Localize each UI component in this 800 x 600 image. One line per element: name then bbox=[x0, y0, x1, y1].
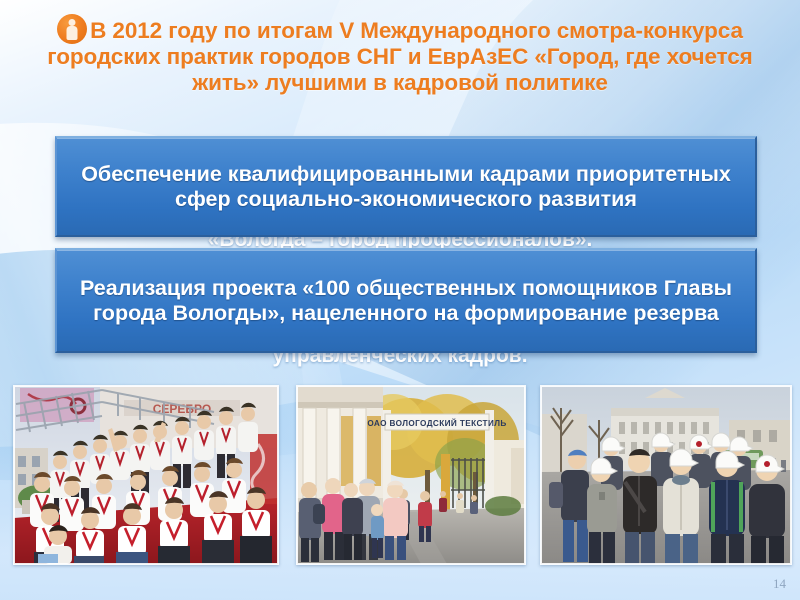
page-number: 14 bbox=[773, 576, 786, 592]
slide-heading-text: В 2012 году по итогам V Международного с… bbox=[47, 18, 752, 95]
photo-youths-in-caps bbox=[540, 385, 792, 565]
callout-box-1-text: Обеспечение квалифицированными кадрами п… bbox=[57, 162, 755, 212]
presentation-slide: В 2012 году по итогам V Международного с… bbox=[0, 0, 800, 600]
callout-box-2-text: Реализация проекта «100 общественных пом… bbox=[57, 276, 755, 326]
photo-3-graphic bbox=[541, 386, 791, 564]
slide-heading-block: В 2012 году по итогам V Международного с… bbox=[20, 14, 780, 96]
photo-group-on-stage: СЕРЕБРО bbox=[13, 385, 279, 565]
photo-factory-excursion: ОАО ВОЛОГОДСКИЙ ТЕКСТИЛЬ bbox=[296, 385, 526, 565]
photo-2-graphic: ОАО ВОЛОГОДСКИЙ ТЕКСТИЛЬ bbox=[297, 386, 525, 564]
svg-text:ОАО ВОЛОГОДСКИЙ ТЕКСТИЛЬ: ОАО ВОЛОГОДСКИЙ ТЕКСТИЛЬ bbox=[367, 417, 506, 428]
callout-box-2: Реализация проекта «100 общественных пом… bbox=[55, 248, 757, 353]
photo-1-graphic: СЕРЕБРО bbox=[14, 386, 278, 564]
person-bullet-icon bbox=[57, 14, 87, 44]
callout-box-1: Обеспечение квалифицированными кадрами п… bbox=[55, 136, 757, 237]
